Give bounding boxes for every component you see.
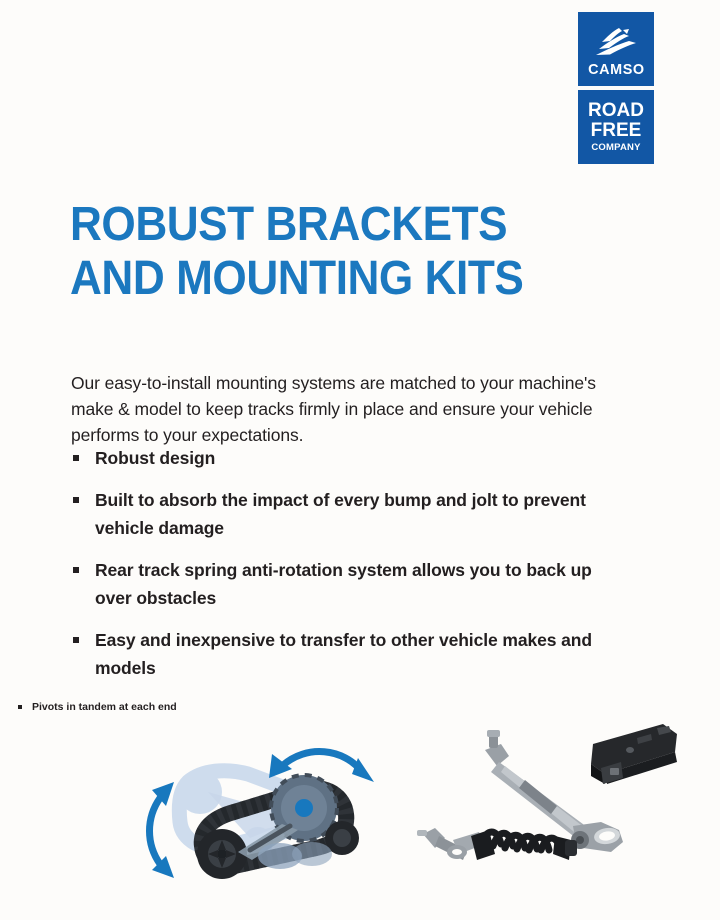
page-title-line-1: ROBUST BRACKETS xyxy=(70,198,585,252)
camso-mountain-mark xyxy=(593,27,639,57)
tagline-line-road: ROAD xyxy=(588,101,644,120)
intro-paragraph: Our easy-to-install mounting systems are… xyxy=(71,370,633,448)
rotation-arrow-left-icon xyxy=(150,782,175,878)
list-item: Rear track spring anti-rotation system a… xyxy=(71,556,631,612)
page-title-line-2: AND MOUNTING KITS xyxy=(70,252,585,306)
square-bullet-icon xyxy=(18,705,22,709)
list-item-label: Robust design xyxy=(95,444,631,472)
camso-logo: CAMSO ROAD FREE COMPANY xyxy=(578,12,654,164)
footnote-label: Pivots in tandem at each end xyxy=(32,701,177,713)
square-bullet-icon xyxy=(73,567,79,573)
pivot-hub-icon xyxy=(295,799,313,817)
black-bracket-part xyxy=(591,724,677,784)
road-free-company-tile: ROAD FREE COMPANY xyxy=(578,90,654,164)
spring-shock-part xyxy=(417,828,577,860)
footnote: Pivots in tandem at each end xyxy=(18,700,177,714)
page-title: ROBUST BRACKETS AND MOUNTING KITS xyxy=(70,198,585,306)
list-item: Easy and inexpensive to transfer to othe… xyxy=(71,626,631,682)
feature-list: Robust design Built to absorb the impact… xyxy=(71,444,631,696)
list-item: Built to absorb the impact of every bump… xyxy=(71,486,631,542)
square-bullet-icon xyxy=(73,455,79,461)
list-item: Robust design xyxy=(71,444,631,472)
tagline-line-free: FREE xyxy=(591,121,642,140)
mounting-bracket-hardware-photo xyxy=(405,718,705,888)
tagline-line-company: COMPANY xyxy=(591,143,640,153)
rotation-arrow-top-icon xyxy=(269,752,374,782)
list-item-label: Rear track spring anti-rotation system a… xyxy=(95,556,631,612)
list-item-label: Easy and inexpensive to transfer to othe… xyxy=(95,626,631,682)
rubber-track-system-diagram xyxy=(130,726,400,896)
illustration-area xyxy=(0,718,720,898)
list-item-label: Built to absorb the impact of every bump… xyxy=(95,486,631,542)
camso-brand-tile: CAMSO xyxy=(578,12,654,86)
square-bullet-icon xyxy=(73,637,79,643)
camso-wordmark: CAMSO xyxy=(588,62,644,77)
square-bullet-icon xyxy=(73,497,79,503)
